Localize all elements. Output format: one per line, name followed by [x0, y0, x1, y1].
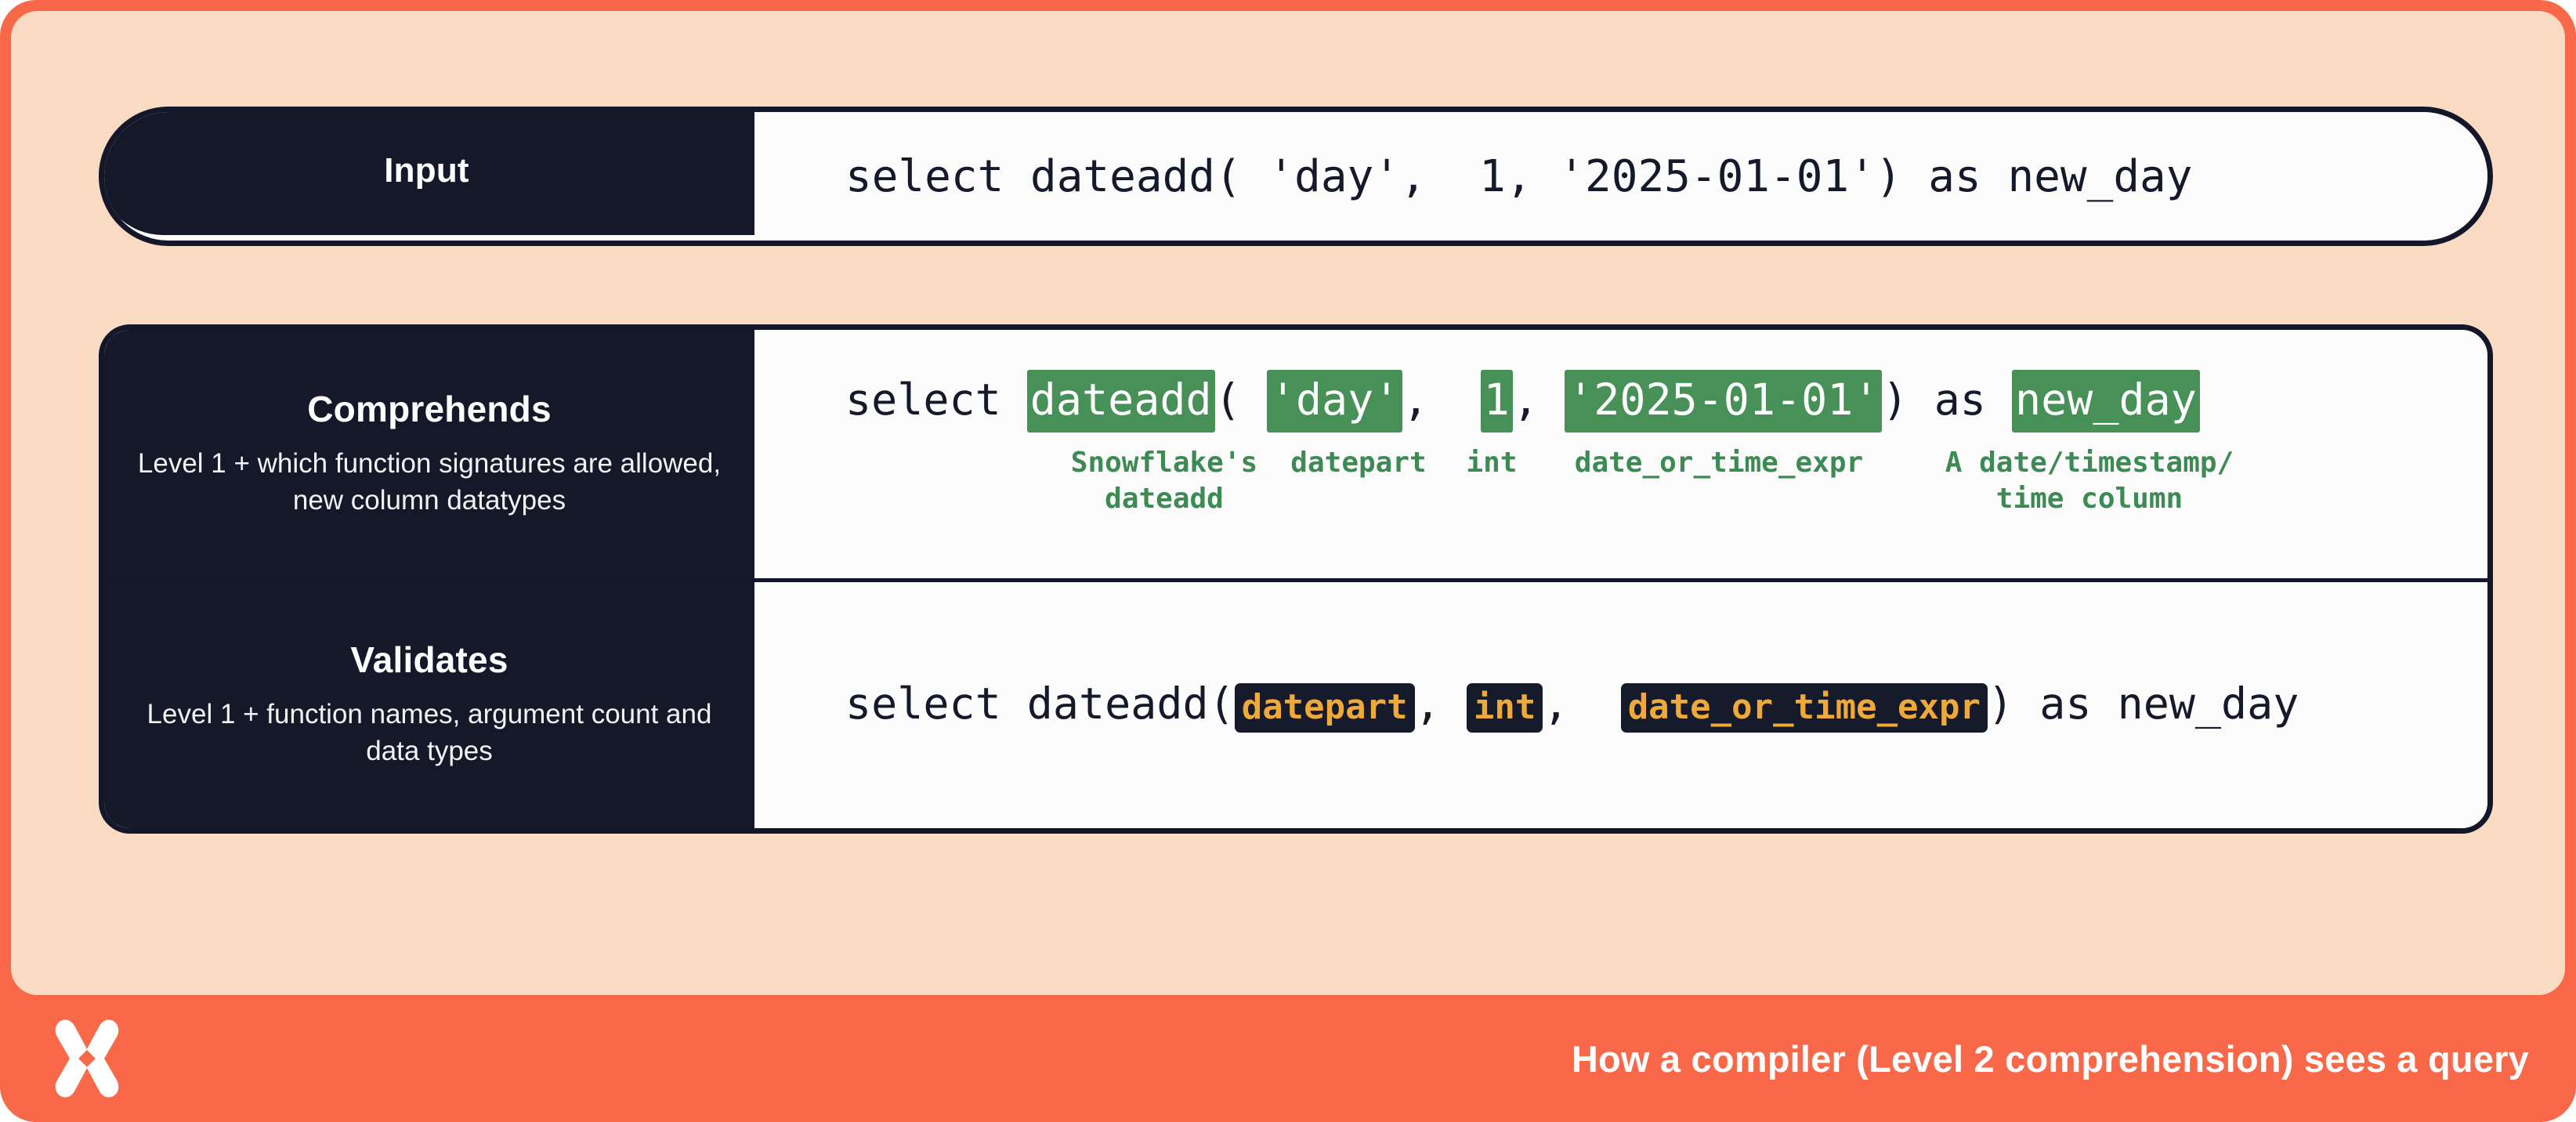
input-label-title: Input [384, 152, 469, 190]
code-token-highlight: new_day [2012, 370, 2200, 433]
comprehends-code-text: select dateadd( 'day', 1, '2025-01-01') … [845, 370, 2200, 433]
code-token-highlight: '2025-01-01' [1565, 370, 1882, 433]
footer-bar: How a compiler (Level 2 comprehension) s… [0, 995, 2576, 1122]
validates-code-text: select dateadd(datepart, int, date_or_ti… [845, 679, 2299, 733]
comprehends-label-description: Level 1 + which function signatures are … [132, 445, 727, 519]
input-code-panel: select dateadd( 'day', 1, '2025-01-01') … [754, 112, 2487, 241]
code-token-plain: ) as [1882, 375, 2012, 425]
code-token-plain: ) as new_day [1988, 679, 2299, 729]
infographic-frame: Input select dateadd( 'day', 1, '2025-01… [0, 0, 2576, 1122]
code-token-highlight: 'day' [1267, 370, 1403, 433]
code-token-plain: select [845, 375, 1027, 425]
code-token-plain: , [1415, 679, 1467, 729]
comprehends-label-title: Comprehends [307, 389, 551, 429]
infographic-canvas: Input select dateadd( 'day', 1, '2025-01… [11, 11, 2565, 995]
levels-card: Comprehends Level 1 + which function sig… [99, 324, 2493, 834]
validates-label-panel: Validates Level 1 + function names, argu… [99, 582, 754, 834]
code-token-plain: select dateadd( [845, 679, 1235, 729]
code-annotation-label: datepart [1272, 445, 1445, 481]
code-token-highlight: dateadd [1027, 370, 1215, 433]
code-annotation-label: Snowflake's dateadd [1062, 445, 1266, 517]
comprehends-label-panel: Comprehends Level 1 + which function sig… [99, 324, 754, 578]
code-token-plain: , [1402, 375, 1480, 425]
code-annotation-label: A date/timestamp/ time column [1901, 445, 2278, 517]
comprehends-code-wrapper: select dateadd( 'day', 1, '2025-01-01') … [845, 330, 2200, 578]
comprehends-row: Comprehends Level 1 + which function sig… [104, 330, 2487, 582]
validates-label-title: Validates [350, 640, 508, 680]
code-token-highlight: 1 [1481, 370, 1513, 433]
footer-caption: How a compiler (Level 2 comprehension) s… [1572, 1037, 2529, 1080]
validates-row: Validates Level 1 + function names, argu… [104, 582, 2487, 828]
code-token-plain: ( [1215, 375, 1267, 425]
input-label-panel: Input [99, 107, 754, 235]
code-token-highlight: datepart [1235, 683, 1415, 733]
validates-code-panel: select dateadd(datepart, int, date_or_ti… [754, 582, 2487, 828]
code-annotation-label: int [1449, 445, 1535, 481]
code-token-highlight: date_or_time_expr [1621, 683, 1988, 733]
code-token-plain: , [1513, 375, 1565, 425]
input-code-text: select dateadd( 'day', 1, '2025-01-01') … [845, 151, 2192, 202]
comprehends-annotation-row: Snowflake's dateadddatepartintdate_or_ti… [845, 445, 2200, 547]
code-token-highlight: int [1467, 683, 1543, 733]
code-token-plain: , [1543, 679, 1620, 729]
comprehends-code-panel: select dateadd( 'day', 1, '2025-01-01') … [754, 330, 2487, 578]
input-row-card: Input select dateadd( 'day', 1, '2025-01… [99, 107, 2493, 246]
code-annotation-label: date_or_time_expr [1535, 445, 1903, 481]
validates-label-description: Level 1 + function names, argument count… [132, 696, 727, 770]
x-star-logo-icon [44, 1015, 130, 1102]
